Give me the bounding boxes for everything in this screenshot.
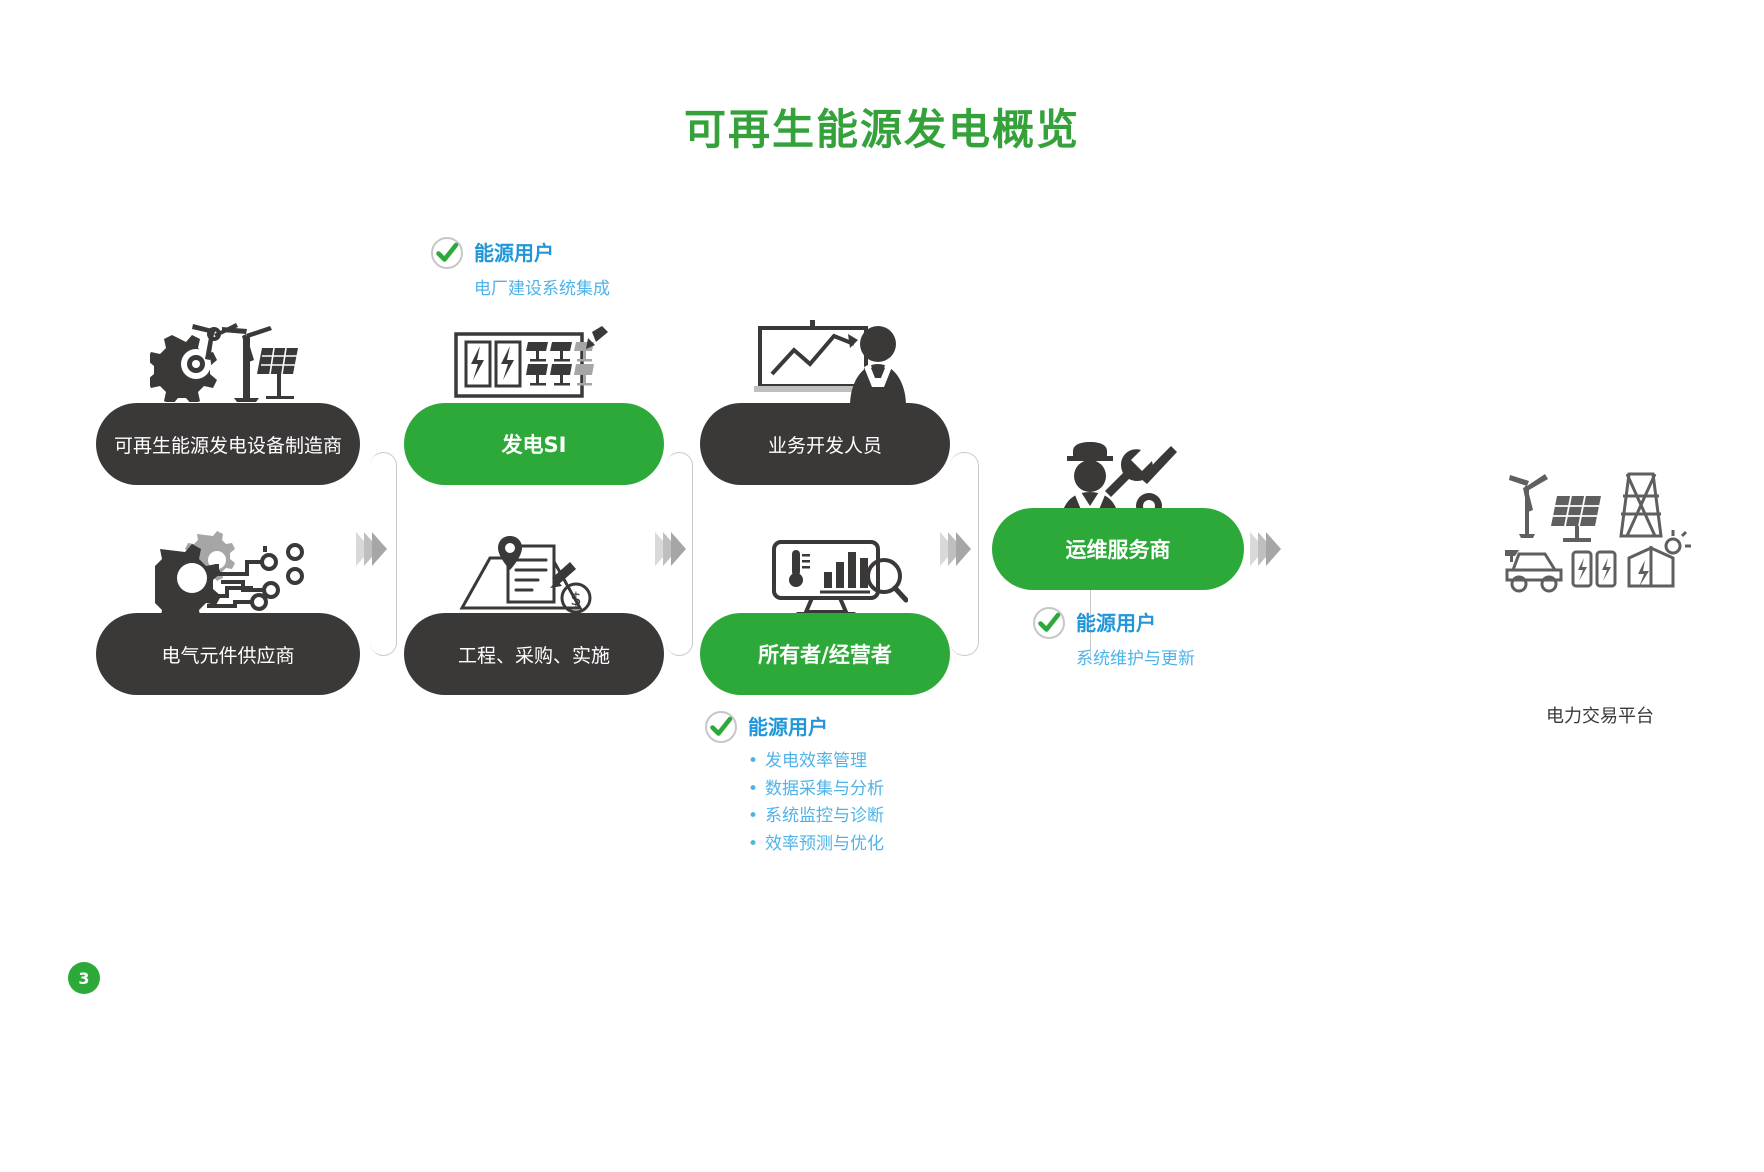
slide-canvas: 可再生能源发电概览 能源用户 电厂建设系统集成: [0, 0, 1764, 1172]
callout-title: 能源用户: [474, 243, 554, 263]
contract-map-money-icon: $: [452, 538, 602, 616]
callout-title: 能源用户: [1076, 613, 1156, 633]
node-business-developer[interactable]: 业务开发人员: [700, 403, 950, 485]
callout-header: 能源用户: [430, 236, 610, 270]
gear-circuit-icon: [155, 532, 315, 614]
callout-header: 能源用户: [704, 710, 884, 744]
chevron-triple-icon-4: [1250, 532, 1274, 566]
gear-wind-solar-icon: [150, 322, 300, 402]
inverter-solar-panel-icon: [452, 328, 612, 404]
node-label: 可再生能源发电设备制造商: [114, 431, 342, 458]
node-equipment-manufacturer[interactable]: 可再生能源发电设备制造商: [96, 403, 360, 485]
list-item: 发电效率管理: [748, 748, 884, 776]
grid-assets-icon: [1505, 468, 1695, 598]
chevron-3: [1266, 532, 1281, 566]
node-om-provider[interactable]: 运维服务商: [992, 508, 1244, 590]
check-circle-icon: [704, 710, 738, 744]
node-power-si[interactable]: 发电SI: [404, 403, 664, 485]
check-circle-icon: [1032, 606, 1066, 640]
callout-bullet-list: 发电效率管理 数据采集与分析 系统监控与诊断 效率预测与优化: [748, 748, 884, 858]
node-label: 所有者/经营者: [758, 639, 892, 669]
presenter-chart-icon: [748, 322, 918, 406]
node-trading-platform-label: 电力交易平台: [1470, 702, 1730, 728]
callout-om-provider: 能源用户 系统维护与更新: [1032, 606, 1195, 672]
node-label: 电气元件供应商: [161, 641, 294, 668]
chevron-3: [956, 532, 971, 566]
monitor-analytics-icon: [768, 538, 908, 618]
callout-owner-operator: 能源用户 发电效率管理 数据采集与分析 系统监控与诊断 效率预测与优化: [704, 710, 884, 858]
callout-header: 能源用户: [1032, 606, 1195, 640]
svg-text:$: $: [570, 589, 581, 610]
callout-subtitle: 电厂建设系统集成: [474, 277, 610, 302]
node-component-supplier[interactable]: 电气元件供应商: [96, 613, 360, 695]
node-epc[interactable]: 工程、采购、实施: [404, 613, 664, 695]
list-item: 数据采集与分析: [748, 776, 884, 804]
chevron-3: [671, 532, 686, 566]
callout-power-si: 能源用户 电厂建设系统集成: [430, 236, 610, 302]
page-number-badge: 3: [68, 962, 100, 994]
node-label: 运维服务商: [1066, 534, 1171, 564]
chevron-triple-icon-1: [356, 532, 380, 566]
node-label: 发电SI: [502, 429, 567, 459]
chevron-triple-icon-2: [655, 532, 679, 566]
node-label: 业务开发人员: [768, 431, 882, 458]
callout-title: 能源用户: [748, 717, 828, 737]
list-item: 效率预测与优化: [748, 831, 884, 859]
node-label: 工程、采购、实施: [458, 641, 610, 668]
node-owner-operator[interactable]: 所有者/经营者: [700, 613, 950, 695]
chevron-triple-icon-3: [940, 532, 964, 566]
page-title: 可再生能源发电概览: [0, 96, 1764, 157]
callout-subtitle: 系统维护与更新: [1076, 647, 1195, 672]
list-item: 系统监控与诊断: [748, 803, 884, 831]
chevron-3: [372, 532, 387, 566]
check-circle-icon: [430, 236, 464, 270]
